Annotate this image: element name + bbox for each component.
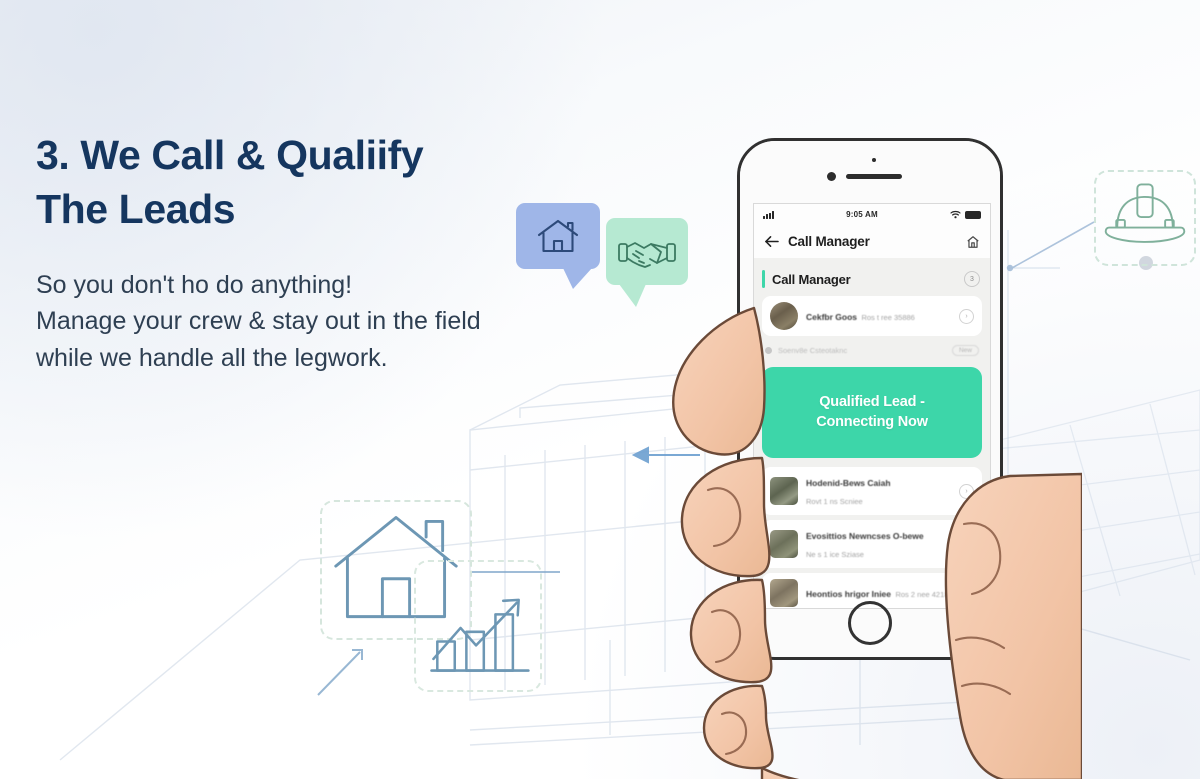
index-finger	[673, 308, 764, 454]
hand-illustration	[612, 268, 1082, 779]
chat-bubble-house-tail	[563, 268, 592, 289]
slide-canvas: 3. We Call & Qualiify The Leads So you d…	[0, 0, 1200, 779]
subheadline-line-1: So you don't ho do anything!	[36, 267, 596, 303]
proximity-sensor	[872, 158, 876, 162]
subheadline-line-3: while we handle all the legwork.	[36, 340, 596, 376]
ring-finger	[691, 580, 771, 682]
status-bar: 9:05 AM	[754, 204, 990, 225]
subheadline-line-2: Manage your crew & stay out in the field	[36, 303, 596, 339]
cellular-signal-icon	[763, 211, 774, 219]
app-header: Call Manager	[754, 225, 990, 258]
page-title: 3. We Call & Qualiify The Leads	[36, 128, 596, 236]
front-camera-icon	[827, 172, 836, 181]
headline-block: 3. We Call & Qualiify The Leads So you d…	[36, 128, 596, 376]
palm-edge	[762, 768, 1004, 779]
house-icon	[535, 216, 581, 256]
status-bar-time: 9:05 AM	[846, 210, 878, 219]
hard-hat-icon	[1096, 172, 1194, 264]
hard-hat-dashed-box	[1094, 170, 1196, 266]
growth-chart-dashed-box	[414, 560, 542, 692]
headline-line-2: The Leads	[36, 182, 596, 236]
status-bar-right	[950, 210, 981, 219]
home-icon[interactable]	[966, 235, 980, 249]
hand-svg	[612, 268, 1082, 779]
handshake-icon	[617, 232, 677, 272]
growth-bar-chart-icon	[416, 562, 540, 690]
battery-full-icon	[965, 211, 981, 219]
middle-finger	[682, 458, 769, 576]
earpiece-speaker	[846, 174, 902, 179]
headline-line-1: 3. We Call & Qualiify	[36, 128, 596, 182]
wifi-icon	[950, 210, 961, 219]
status-bar-left	[763, 211, 774, 219]
chat-bubble-house-body	[516, 203, 600, 269]
thumb	[946, 474, 1082, 779]
app-header-title: Call Manager	[788, 234, 957, 249]
subheadline: So you don't ho do anything! Manage your…	[36, 267, 596, 376]
phone-top-bezel	[740, 141, 1000, 203]
chat-bubble-house	[516, 203, 600, 269]
back-arrow-icon[interactable]	[764, 235, 779, 248]
pinky-finger	[704, 686, 772, 768]
